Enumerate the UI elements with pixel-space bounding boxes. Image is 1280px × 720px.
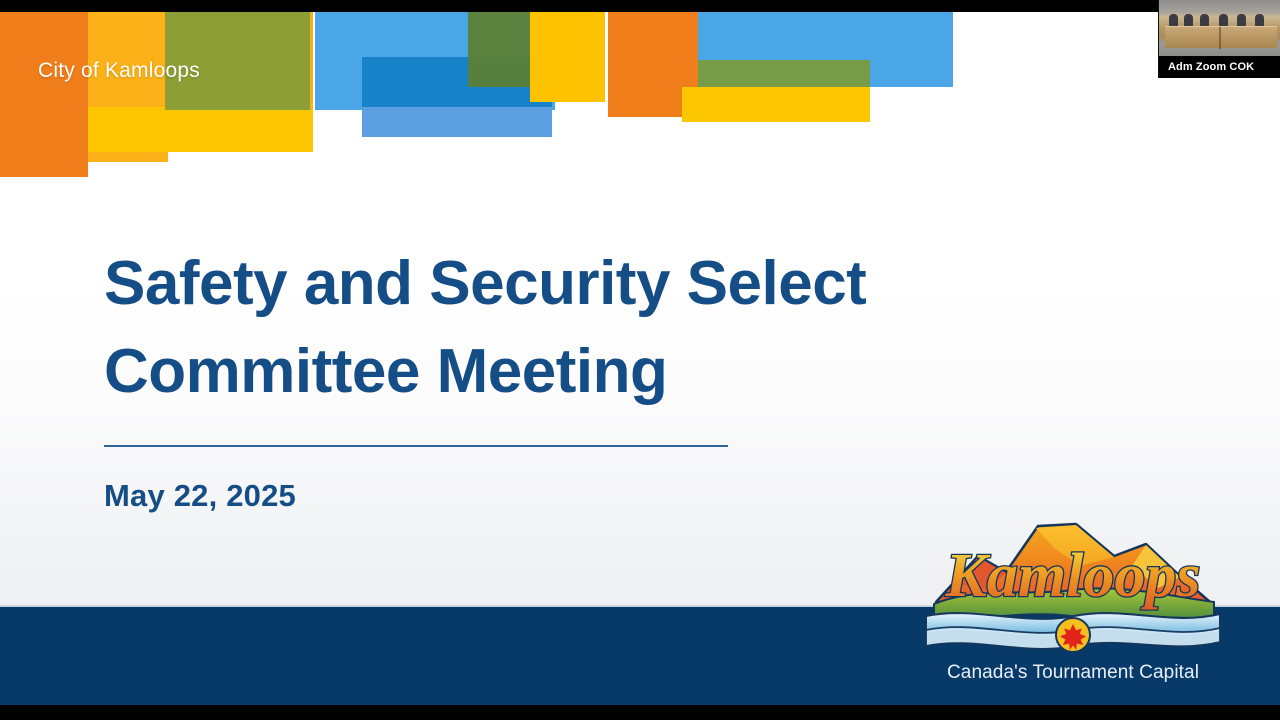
- decor-block-yellow-wide: [88, 107, 313, 152]
- letterbox-top: [0, 0, 1280, 12]
- decor-block-green-small: [468, 12, 530, 87]
- decor-block-yellow-tall: [530, 12, 605, 102]
- organization-label: City of Kamloops: [38, 59, 200, 83]
- maple-leaf-icon: [1056, 618, 1090, 652]
- letterbox-bottom: [0, 705, 1280, 720]
- meeting-date: May 22, 2025: [104, 478, 296, 514]
- title-container: Safety and Security Select Committee Mee…: [104, 240, 1064, 416]
- kamloops-logo-graphic: Kamloops: [918, 504, 1228, 654]
- logo-wordmark: Kamloops: [945, 542, 1201, 610]
- council-chamber-desk: [1165, 26, 1277, 48]
- thumbnail-video-feed: [1159, 0, 1280, 56]
- title-divider: [104, 445, 728, 447]
- presentation-slide: City of Kamloops Safety and Security Sel…: [0, 12, 1280, 705]
- logo-tagline: Canada's Tournament Capital: [918, 662, 1228, 684]
- video-player-frame: City of Kamloops Safety and Security Sel…: [0, 0, 1280, 720]
- decor-block-blue-pale: [362, 107, 552, 137]
- thumbnail-participant-name: Adm Zoom COK: [1159, 56, 1280, 78]
- kamloops-logo: Kamloops Canada's Tournament Capital: [918, 504, 1228, 700]
- decor-block-orange-left: [0, 12, 88, 177]
- decor-block-yellow-band-right: [682, 87, 870, 122]
- decor-block-green-band-right: [698, 60, 870, 87]
- decorative-color-blocks: [0, 12, 1280, 187]
- zoom-participant-thumbnail[interactable]: Adm Zoom COK: [1158, 0, 1280, 78]
- page-title: Safety and Security Select Committee Mee…: [104, 240, 1064, 416]
